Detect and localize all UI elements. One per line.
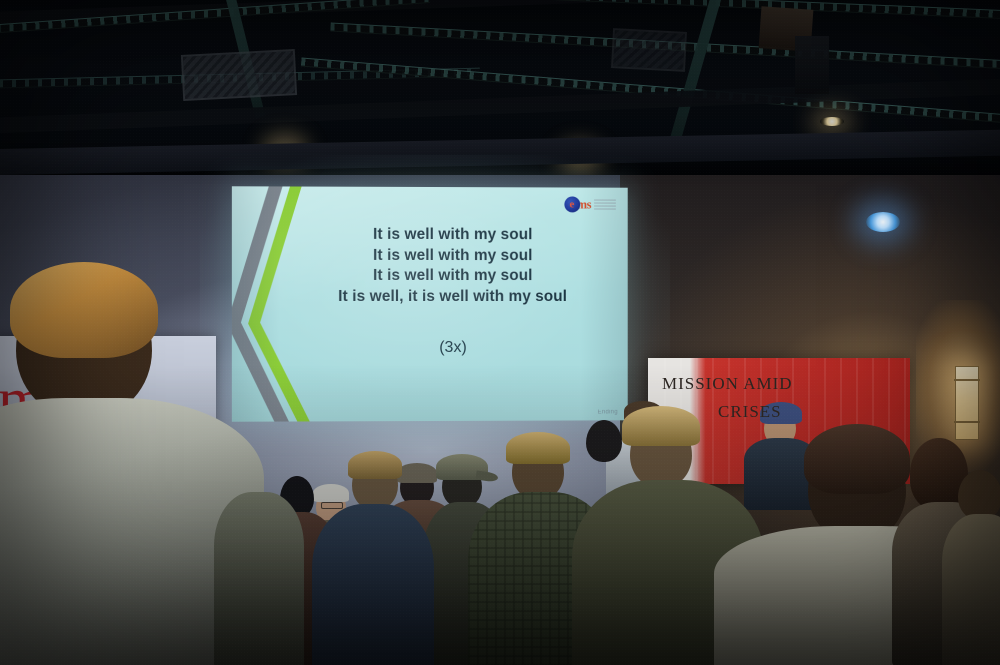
ceiling bbox=[0, 0, 1000, 175]
blue-spotlight-icon bbox=[866, 212, 900, 232]
repeat-note: (3x) bbox=[284, 339, 619, 357]
lyric-line: It is well, it is well with my soul bbox=[284, 287, 619, 308]
ceiling-rigging bbox=[795, 36, 829, 94]
ceiling-soffit bbox=[0, 130, 1000, 175]
lyric-line: It is well with my soul bbox=[284, 225, 619, 246]
photo-scene: e ms It is well with my soul It is well … bbox=[0, 0, 1000, 665]
slide-surface: e ms It is well with my soul It is well … bbox=[232, 186, 628, 421]
projection-screen: e ms It is well with my soul It is well … bbox=[232, 186, 628, 421]
ems-logo: e ms bbox=[564, 196, 616, 212]
lyric-line: It is well with my soul bbox=[284, 245, 619, 266]
slide-lyrics: It is well with my soul It is well with … bbox=[284, 225, 619, 308]
downlight-icon bbox=[820, 117, 844, 126]
ceiling-vent bbox=[181, 49, 297, 101]
ceiling-vent bbox=[611, 28, 687, 72]
wall-sconce-icon bbox=[955, 366, 979, 440]
banner-right-line1: MISSION AMID bbox=[662, 374, 793, 394]
lyric-line: It is well with my soul bbox=[284, 266, 619, 287]
slide-footer-note: Ending bbox=[598, 409, 618, 415]
ems-disc-icon: e bbox=[564, 196, 580, 212]
banner-right-line2: CRISES bbox=[718, 402, 782, 422]
ems-tagline-icon bbox=[594, 199, 616, 210]
